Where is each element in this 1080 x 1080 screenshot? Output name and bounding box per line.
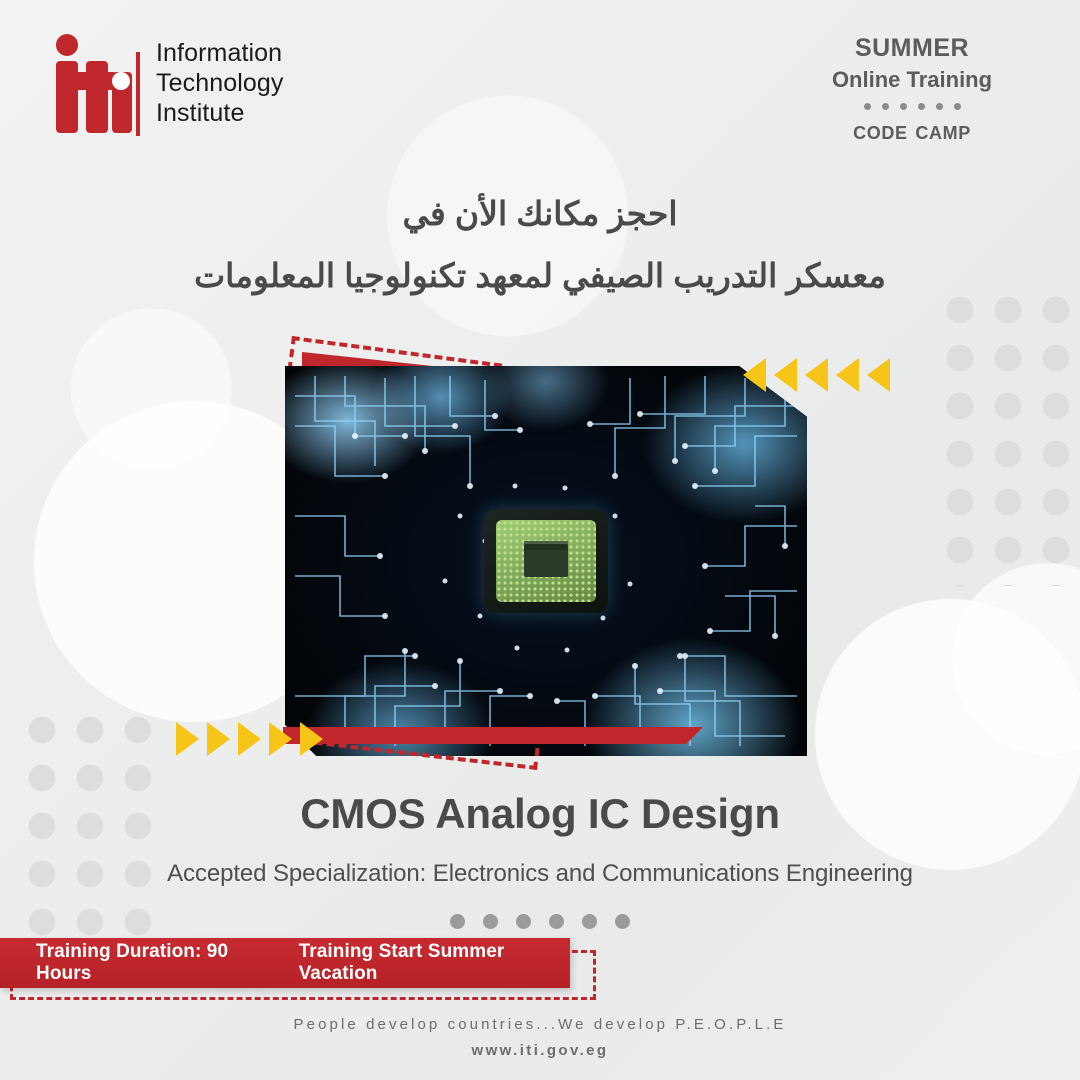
separator-dot: [516, 914, 531, 929]
brand-online-training-label: Online Training: [802, 66, 1022, 94]
separator-dot: [582, 914, 597, 929]
brand-summer-label: Summer: [802, 26, 1022, 64]
logo-line-2: Technology: [156, 68, 283, 98]
course-dot-separator: [0, 914, 1080, 929]
circuit-board-photo: [285, 366, 807, 756]
right-arrow-icon: [238, 722, 261, 756]
right-arrow-icon: [300, 722, 323, 756]
headline-line-1: احجز مكانك الأن في: [0, 190, 1080, 238]
left-arrow-icon: [743, 358, 766, 392]
chip-core: [524, 541, 568, 577]
iti-logo-text: Information Technology Institute: [156, 38, 283, 128]
arrow-group-top-right: [743, 358, 890, 392]
brand-dot-separator: [802, 103, 1022, 110]
media-block: [278, 330, 808, 780]
chip-die: [496, 520, 596, 602]
left-arrow-icon: [774, 358, 797, 392]
iti-logo: Information Technology Institute: [42, 28, 283, 138]
iti-logo-icon: [42, 28, 142, 138]
info-bar-red: Training Duration: 90 Hours Training Sta…: [0, 938, 570, 988]
separator-dot: [954, 103, 961, 110]
separator-dot: [483, 914, 498, 929]
left-arrow-icon: [867, 358, 890, 392]
course-subtitle: Accepted Specialization: Electronics and…: [0, 860, 1080, 888]
separator-dot: [864, 103, 871, 110]
footer-website-url[interactable]: www.iti.gov.eg: [0, 1042, 1080, 1059]
separator-dot: [882, 103, 889, 110]
separator-dot: [615, 914, 630, 929]
campaign-brand: Summer Online Training Code Camp: [802, 26, 1022, 144]
right-arrow-icon: [176, 722, 199, 756]
separator-dot: [549, 914, 564, 929]
training-duration-label: Training Duration: 90 Hours: [36, 941, 273, 985]
left-arrow-icon: [805, 358, 828, 392]
cpu-chip: [484, 509, 608, 613]
right-arrow-icon: [269, 722, 292, 756]
poster-canvas: Information Technology Institute Summer …: [0, 0, 1080, 1080]
dot-grid-right: [936, 286, 1080, 586]
footer-tagline: People develop countries...We develop P.…: [0, 1016, 1080, 1033]
logo-line-1: Information: [156, 38, 283, 68]
footer: People develop countries...We develop P.…: [0, 1016, 1080, 1059]
left-arrow-icon: [836, 358, 859, 392]
training-start-label: Training Start Summer Vacation: [299, 941, 570, 985]
brand-code-camp-label: Code Camp: [802, 116, 1022, 144]
training-info-bar: Training Duration: 90 Hours Training Sta…: [0, 938, 596, 1000]
course-title: CMOS Analog IC Design: [0, 790, 1080, 838]
logo-line-3: Institute: [156, 98, 283, 128]
arabic-headline: احجز مكانك الأن في معسكر التدريب الصيفي …: [0, 190, 1080, 300]
separator-dot: [918, 103, 925, 110]
separator-dot: [450, 914, 465, 929]
right-arrow-icon: [207, 722, 230, 756]
separator-dot: [900, 103, 907, 110]
separator-dot: [936, 103, 943, 110]
course-info: CMOS Analog IC Design Accepted Specializ…: [0, 790, 1080, 929]
headline-line-2: معسكر التدريب الصيفي لمعهد تكنولوجيا الم…: [0, 252, 1080, 300]
arrow-group-bottom-left: [176, 722, 323, 756]
